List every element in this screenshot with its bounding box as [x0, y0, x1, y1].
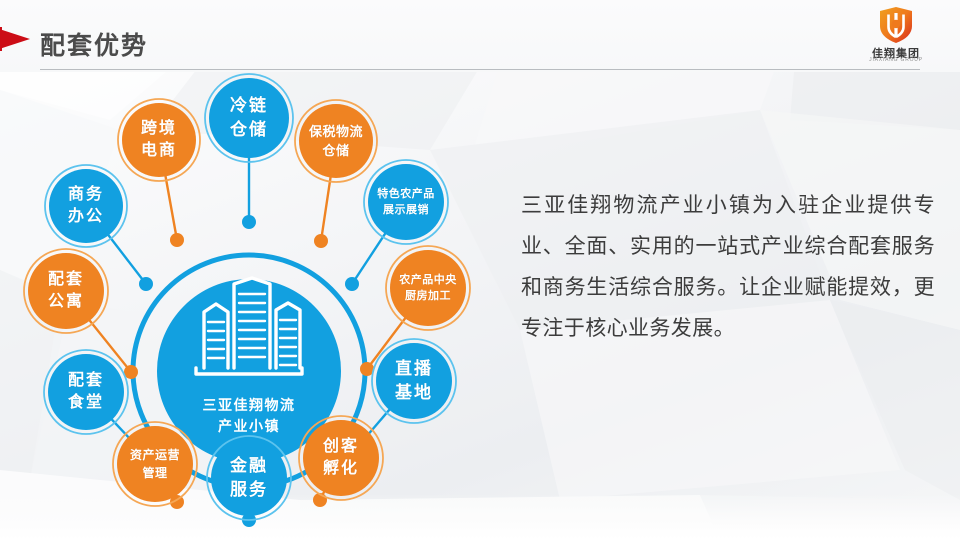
shield-logo-icon [850, 4, 942, 44]
connector-joint-specialty-agri-product-exhibition [345, 277, 359, 291]
node-bubble-agri-central-kitchen-processing[interactable] [390, 250, 466, 326]
node-bubble-supporting-apartment[interactable] [28, 253, 104, 329]
node-bubble-livestream-base[interactable] [376, 343, 452, 419]
node-bubble-maker-incubation[interactable] [303, 420, 379, 496]
company-logo: 佳翔集团 JIAXIANG GROUP [850, 4, 942, 66]
ecosystem-diagram: 冷链仓储跨境电商保税物流仓储商务办公特色农产品展示展销配套公寓农产品中央厨房加工… [0, 72, 500, 540]
page-title: 配套优势 [40, 26, 148, 62]
node-bubble-asset-operation-management[interactable] [117, 426, 193, 502]
connector-joint-cross-border-ecommerce [170, 233, 184, 247]
connector-joint-business-office [139, 277, 153, 291]
node-bubble-business-office[interactable] [49, 169, 123, 243]
slide-root: 配套优势 佳翔集团 JIAXIANG GROUP 冷链仓储跨境电商保税物流仓储商… [0, 0, 960, 540]
connector-joint-bonded-logistics-warehousing [314, 234, 328, 248]
header-divider [40, 69, 920, 70]
diagram-canvas [0, 72, 500, 540]
node-bubble-cross-border-ecommerce[interactable] [122, 103, 196, 177]
connector-joint-cold-chain-warehousing [242, 215, 256, 229]
description-paragraph: 三亚佳翔物流产业小镇为入驻企业提供专业、全面、实用的一站式产业综合配套服务和商务… [521, 186, 935, 350]
node-bubble-financial-service[interactable] [211, 440, 287, 516]
node-bubble-supporting-canteen[interactable] [48, 354, 124, 430]
node-bubble-cold-chain-warehousing[interactable] [209, 78, 289, 158]
red-arrow-icon [0, 22, 30, 56]
node-bubble-specialty-agri-product-exhibition[interactable] [368, 164, 444, 240]
node-bubble-bonded-logistics-warehousing[interactable] [299, 104, 373, 178]
logo-name-en: JIAXIANG GROUP [850, 57, 942, 63]
